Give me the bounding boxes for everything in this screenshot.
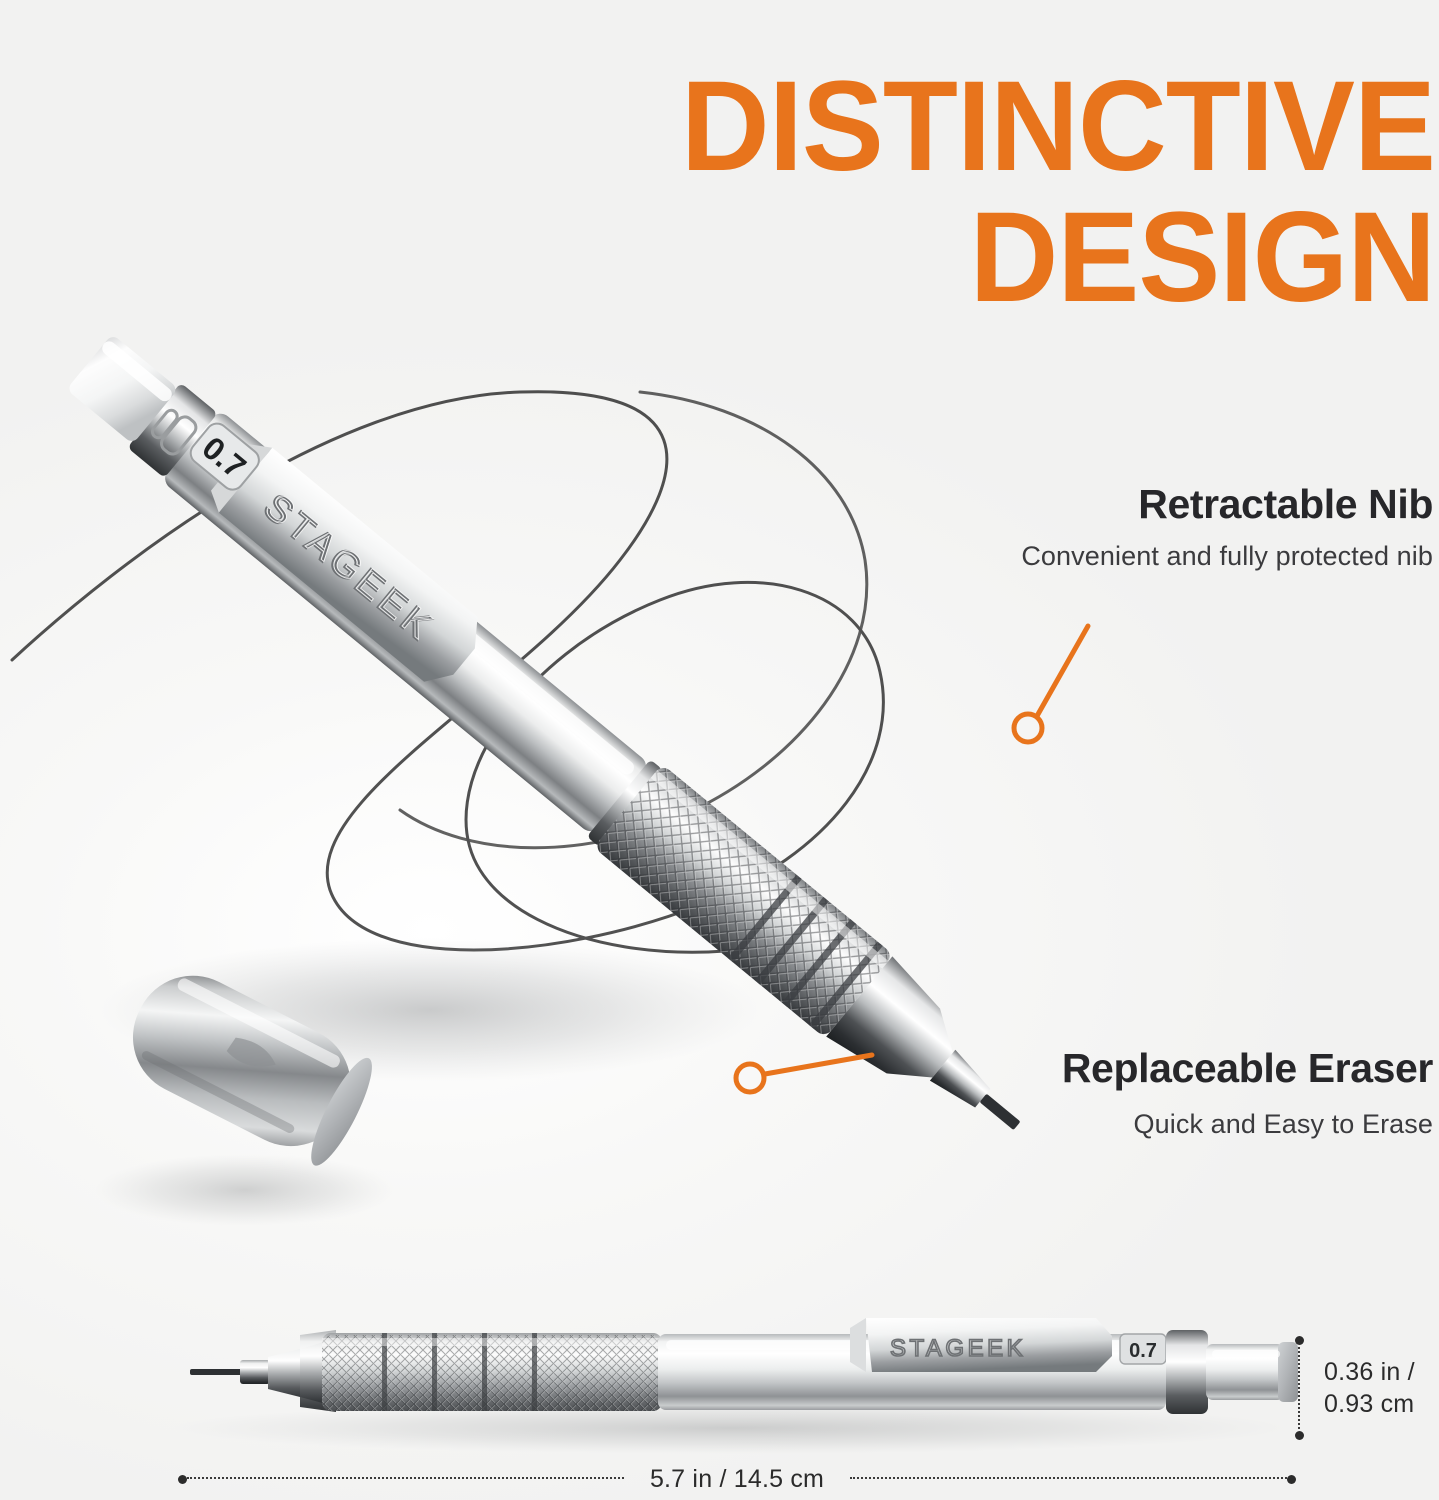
product-feature-banner: STAGEEK STAGEEK (0, 0, 1439, 1500)
bottom-lead-size-badge: 0.7 (1120, 1334, 1166, 1364)
callout-eraser-title: Replaceable Eraser (1062, 1046, 1433, 1090)
length-dim-cap-right (1287, 1475, 1296, 1484)
bottom-lead-tip (190, 1369, 242, 1375)
diameter-dim-cap-bottom (1295, 1431, 1304, 1440)
bottom-brand-engraving: STAGEEK (890, 1335, 1026, 1362)
length-dim-line-right (850, 1477, 1287, 1479)
bottom-collar (1166, 1330, 1208, 1414)
bottom-knurled-grip (322, 1333, 662, 1411)
diameter-dim-line (1292, 1336, 1306, 1440)
hero-lead-tip (980, 1094, 1021, 1130)
callout-nib-subtitle: Convenient and fully protected nib (1021, 540, 1433, 572)
bottom-nib-step (240, 1360, 270, 1384)
callout-eraser-subtitle: Quick and Easy to Erase (1062, 1108, 1433, 1140)
callout-nib-title: Retractable Nib (1021, 482, 1433, 526)
product-illustration: STAGEEK STAGEEK (0, 0, 1439, 1500)
diameter-dim-cap-top (1295, 1336, 1304, 1345)
diameter-dim-dotted (1298, 1347, 1300, 1429)
length-dim-line-left (187, 1477, 624, 1479)
bottom-lead-size-text: 0.7 (1129, 1340, 1157, 1362)
diameter-dim-label-line-1: 0.36 in / (1324, 1358, 1415, 1386)
length-dim-cap-left (178, 1475, 187, 1484)
cap-shadow (95, 1154, 395, 1226)
callout-replaceable-eraser: Replaceable Eraser Quick and Easy to Era… (1062, 1046, 1433, 1141)
diameter-dim-label: 0.36 in / 0.93 cm (1324, 1356, 1415, 1420)
length-dim-label: 5.7 in / 14.5 cm (624, 1465, 850, 1494)
diameter-dim-label-line-2: 0.93 cm (1324, 1390, 1414, 1418)
length-dimension-annotation: 5.7 in / 14.5 cm (178, 1462, 1296, 1496)
diameter-dimension-annotation: 0.36 in / 0.93 cm (1292, 1336, 1415, 1440)
bottom-mechanical-pencil: STAGEEK 0.7 (190, 1318, 1298, 1414)
callout-retractable-nib: Retractable Nib Convenient and fully pro… (1021, 482, 1433, 573)
